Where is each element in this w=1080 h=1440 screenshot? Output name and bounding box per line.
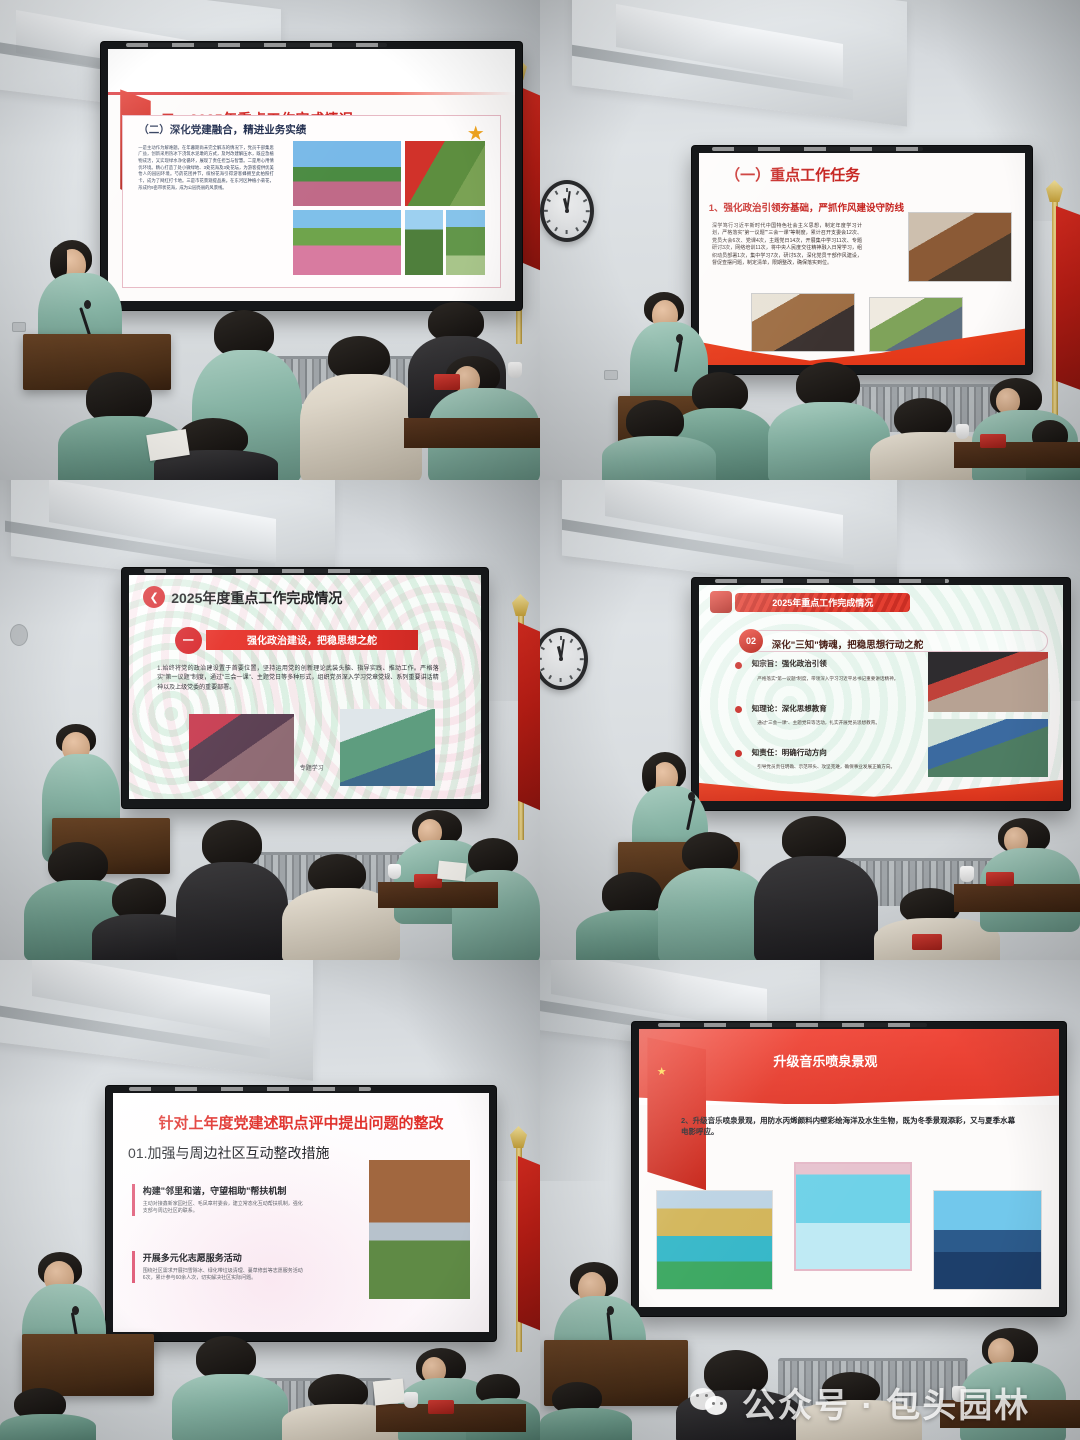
collage-panel-2[interactable]: （一）重点工作任务 1、强化政治引领夯基础，严抓作风建设守防线 深学笃行习近平新… [540, 0, 1080, 480]
microphone-head [688, 792, 695, 801]
slide-4-bullet-heading: 知责任：明确行动方向 [752, 747, 827, 758]
slide-3-section-banner: 强化政治建设，把稳思想之舵 [206, 630, 417, 650]
cup [960, 866, 974, 882]
red-flag [518, 1156, 540, 1332]
display-screen-2[interactable]: （一）重点工作任务 1、强化政治引领夯基础，严抓作风建设守防线 深学笃行习近平新… [692, 146, 1032, 374]
slide-4-bullet-heading: 知宗旨：强化政治引领 [752, 658, 827, 669]
audience-member [172, 1336, 288, 1440]
slide-5-block: 构建"邻里和谐，守望相助"帮扶机制 主动对接鑫新家园社区、毛凤章村委会，建立常态… [132, 1184, 305, 1216]
desk [954, 884, 1080, 912]
slide-6-photo [933, 1190, 1042, 1290]
slide-2: （一）重点工作任务 1、强化政治引领夯基础，严抓作风建设守防线 深学笃行习近平新… [699, 153, 1025, 365]
photo [293, 141, 401, 206]
slide-4-bullet-text: 严格落实"第一议题"制度，带领深入学习习近平总书记重要讲话精神。 [757, 676, 903, 683]
slide-6-photo [656, 1190, 774, 1290]
slide-4-header: 2025年重点工作完成情况 [735, 593, 910, 612]
slide-5-item-number: 01.加强与周边社区互动整改措施 [128, 1143, 329, 1163]
collage-panel-1[interactable]: 二、2025年重点工作完成情况 （二）深化党建融合，精进业务实绩 ★ 一是主动作… [0, 0, 540, 480]
desk [404, 418, 540, 448]
microphone-head [676, 334, 683, 343]
slide-3-photo-caption: 专题学习 [300, 763, 324, 772]
audience-member [300, 336, 422, 480]
block-text: 围绕社区需求开展扫雪除冰、绿化带垃圾清理、蔓草修剪等志愿服务活动6次，累计参与6… [143, 1268, 305, 1283]
collage-panel-5[interactable]: 针对上年度党建述职点评中提出问题的整改 01.加强与周边社区互动整改措施 构建"… [0, 960, 540, 1440]
display-screen-5[interactable]: 针对上年度党建述职点评中提出问题的整改 01.加强与周边社区互动整改措施 构建"… [106, 1086, 496, 1341]
photo [405, 141, 485, 206]
slide-2-paragraph: 深学笃行习近平新时代中国特色社会主义思想，制定年度学习计划，严格落实"第一议题"… [712, 223, 862, 268]
wall-socket [604, 370, 618, 380]
meeting-room-scene-1: 二、2025年重点工作完成情况 （二）深化党建融合，精进业务实绩 ★ 一是主动作… [0, 0, 540, 480]
collage-panel-6[interactable]: ★ 升级音乐喷泉景观 2、升级音乐喷泉景观，用防水丙烯颜料内壁彩绘海洋及水生生物… [540, 960, 1080, 1440]
cup [956, 424, 969, 439]
display-screen-6[interactable]: ★ 升级音乐喷泉景观 2、升级音乐喷泉景观，用防水丙烯颜料内壁彩绘海洋及水生生物… [632, 1022, 1066, 1316]
china-flag-icon: ★ [647, 1037, 706, 1190]
audience-member [754, 816, 878, 960]
slide-5-photo [369, 1160, 471, 1299]
slide-6: ★ 升级音乐喷泉景观 2、升级音乐喷泉景观，用防水丙烯颜料内壁彩绘海洋及水生生物… [639, 1029, 1059, 1307]
display-screen-3[interactable]: ❮ 2025年度重点工作完成情况 一 强化政治建设，把稳思想之舵 1.始终将党的… [122, 568, 488, 808]
slide-6-photo [794, 1162, 912, 1270]
microphone-head [84, 300, 91, 309]
papers [373, 1378, 405, 1405]
slide-5-block: 开展多元化志愿服务活动 围绕社区需求开展扫雪除冰、绿化带垃圾清理、蔓草修剪等志愿… [132, 1251, 305, 1283]
slide-1-photo-grid [293, 141, 485, 275]
microphone-head [72, 1306, 79, 1315]
slide-3-paragraph: 1.始终将党的政治建设置于首要位置，坚持运用党的创新理论武装头脑、指导实践、推动… [157, 665, 439, 694]
slide-4-bullet-text: 通过"三会一课"、主题党日等活动，扎实开展党员思想教育。 [757, 720, 903, 727]
block-heading: 构建"邻里和谐，守望相助"帮扶机制 [143, 1184, 305, 1197]
red-flag [1056, 206, 1080, 392]
slide-6-banner-title: 升级音乐喷泉景观 [773, 1051, 877, 1070]
cup [404, 1392, 418, 1408]
slide-5-title: 针对上年度党建述职点评中提出问题的整改 [113, 1112, 489, 1133]
red-notebook [980, 434, 1006, 448]
seal-icon [710, 591, 732, 613]
meeting-room-scene-3: ❮ 2025年度重点工作完成情况 一 强化政治建设，把稳思想之舵 1.始终将党的… [0, 480, 540, 960]
audience-member [176, 820, 288, 960]
block-heading: 开展多元化志愿服务活动 [143, 1251, 305, 1264]
slide-3-photo [189, 714, 295, 781]
slide-3: ❮ 2025年度重点工作完成情况 一 强化政治建设，把稳思想之舵 1.始终将党的… [129, 575, 481, 799]
watermark-text: 公众号 · 包头园林 [742, 1378, 1030, 1427]
audience-member [540, 1382, 632, 1440]
photo-collage: 二、2025年重点工作完成情况 （二）深化党建融合，精进业务实绩 ★ 一是主动作… [0, 0, 1080, 1440]
photo-pair [405, 210, 485, 275]
slide-4-section-title: 深化"三知"铸魂，把稳思想行动之舵 [772, 637, 924, 651]
photo [446, 210, 485, 275]
podium [22, 1334, 154, 1396]
wall-clock [540, 180, 594, 242]
slide-4-photo [928, 652, 1048, 712]
slide-4-bullet-heading: 知理论：深化思想教育 [752, 703, 827, 714]
section-number-badge: 一 [175, 627, 202, 654]
red-notebook [986, 872, 1014, 886]
wall-socket [12, 322, 26, 332]
red-notebook [428, 1400, 454, 1414]
red-notebook [434, 374, 460, 390]
slide-5: 针对上年度党建述职点评中提出问题的整改 01.加强与周边社区互动整改措施 构建"… [113, 1093, 489, 1332]
audience-member [602, 400, 716, 480]
meeting-room-scene-6: ★ 升级音乐喷泉景观 2、升级音乐喷泉景观，用防水丙烯颜料内壁彩绘海洋及水生生物… [540, 960, 1080, 1440]
slide-4-photo [928, 719, 1048, 777]
photo [405, 210, 444, 275]
red-flag [518, 622, 540, 812]
audience-member [0, 1388, 96, 1440]
collage-panel-3[interactable]: ❮ 2025年度重点工作完成情况 一 强化政治建设，把稳思想之舵 1.始终将党的… [0, 480, 540, 960]
slide-2-subtitle: 1、强化政治引领夯基础，严抓作风建设守防线 [709, 200, 904, 214]
slide-1-paragraph: 一是主动作为解难题。在年暮期尚未完全解冻的情况下，党员干部集思广益，创新采用热冰… [138, 145, 274, 192]
watermark: 公众号 · 包头园林 [690, 1378, 1030, 1427]
meeting-room-scene-4: 2025年重点工作完成情况 02 深化"三知"铸魂，把稳思想行动之舵 知宗旨：强… [540, 480, 1080, 960]
wall-socket [10, 624, 28, 646]
block-text: 主动对接鑫新家园社区、毛凤章村委会，建立常态化互动帮扶机制，强化支部与周边社区的… [143, 1201, 305, 1216]
photo [293, 210, 401, 275]
slide-2-photo [751, 293, 855, 352]
display-screen-4[interactable]: 2025年重点工作完成情况 02 深化"三知"铸魂，把稳思想行动之舵 知宗旨：强… [692, 578, 1070, 810]
microphone-head [607, 1306, 614, 1315]
wechat-icon [690, 1386, 732, 1420]
slide-3-photo [340, 709, 435, 785]
slide-3-header: 2025年度重点工作完成情况 [171, 588, 342, 608]
slide-1-subtitle: （二）深化党建融合，精进业务实绩 [138, 122, 306, 137]
slide-1: 二、2025年重点工作完成情况 （二）深化党建融合，精进业务实绩 ★ 一是主动作… [108, 49, 515, 301]
cup [508, 362, 522, 378]
red-notebook [912, 934, 942, 950]
cup [388, 864, 401, 879]
slide-4-bullet-text: 引导党员责任明确、示范带头、攻坚克难，确保事业发展正确方向。 [757, 764, 903, 771]
slide-6-paragraph: 2、升级音乐喷泉景观，用防水丙烯颜料内壁彩绘海洋及水生生物，既为冬季景观添彩，又… [681, 1115, 1017, 1138]
collage-panel-4[interactable]: 2025年重点工作完成情况 02 深化"三知"铸魂，把稳思想行动之舵 知宗旨：强… [540, 480, 1080, 960]
papers [437, 861, 467, 882]
meeting-room-scene-2: （一）重点工作任务 1、强化政治引领夯基础，严抓作风建设守防线 深学笃行习近平新… [540, 0, 1080, 480]
slide-2-photo [908, 212, 1012, 282]
meeting-room-scene-5: 针对上年度党建述职点评中提出问题的整改 01.加强与周边社区互动整改措施 构建"… [0, 960, 540, 1440]
desk [954, 442, 1080, 468]
slide-2-title: （一）重点工作任务 [725, 164, 860, 185]
slide-4: 2025年重点工作完成情况 02 深化"三知"铸魂，把稳思想行动之舵 知宗旨：强… [699, 585, 1063, 801]
display-screen-1[interactable]: 二、2025年重点工作完成情况 （二）深化党建融合，精进业务实绩 ★ 一是主动作… [101, 42, 522, 310]
